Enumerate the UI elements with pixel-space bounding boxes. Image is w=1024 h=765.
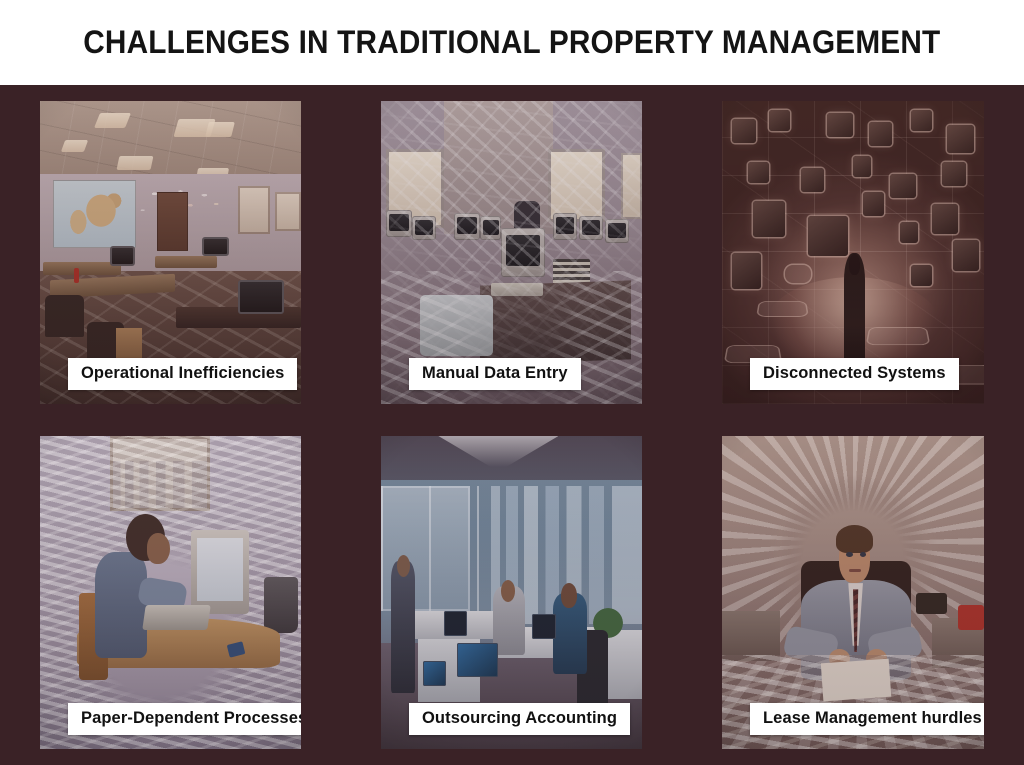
tile-operational-inefficiencies[interactable]: Operational Inefficiencies <box>40 101 301 404</box>
tile-label-paper-dependent-processes: Paper-Dependent Processes <box>68 703 301 735</box>
tile-manual-data-entry[interactable]: Manual Data Entry <box>381 101 642 404</box>
image-grid: Operational Inefficiencies Manual Data <box>0 85 1024 765</box>
tile-label-outsourcing-accounting: Outsourcing Accounting <box>409 703 630 735</box>
tile-outsourcing-accounting[interactable]: Outsourcing Accounting <box>381 436 642 749</box>
tile-lease-management-hurdles[interactable]: Lease Management hurdles <box>722 436 984 749</box>
tile-disconnected-systems[interactable]: Disconnected Systems <box>722 101 984 404</box>
poster-root: CHALLENGES IN TRADITIONAL PROPERTY MANAG… <box>0 0 1024 765</box>
tile-paper-dependent-processes[interactable]: Paper-Dependent Processes <box>40 436 301 749</box>
tile-label-lease-management-hurdles: Lease Management hurdles <box>750 703 984 735</box>
poster-header: CHALLENGES IN TRADITIONAL PROPERTY MANAG… <box>0 0 1024 85</box>
tile-label-operational-inefficiencies: Operational Inefficiencies <box>68 358 297 390</box>
tile-label-disconnected-systems: Disconnected Systems <box>750 358 959 390</box>
page-title: CHALLENGES IN TRADITIONAL PROPERTY MANAG… <box>83 24 940 61</box>
tile-label-manual-data-entry: Manual Data Entry <box>409 358 581 390</box>
